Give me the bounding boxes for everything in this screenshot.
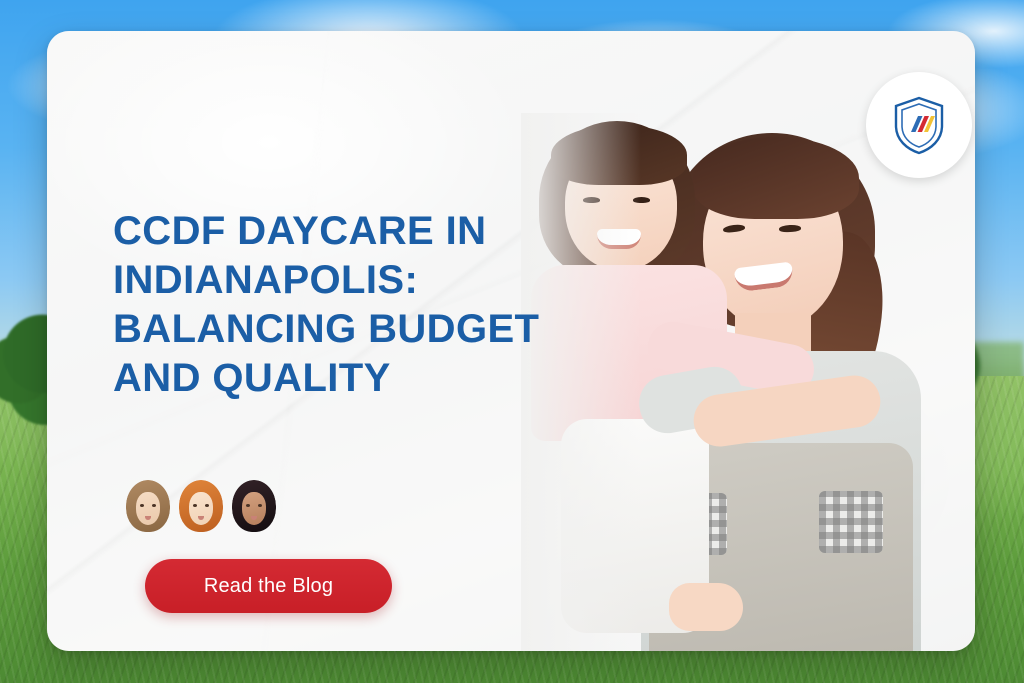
banner-card: CCDF Daycare in Indianapolis: Balancing …: [47, 31, 975, 651]
shield-icon: [891, 95, 947, 155]
apron-pocket-right: [819, 491, 883, 553]
page-title: CCDF Daycare in Indianapolis: Balancing …: [113, 207, 593, 403]
avatar-eye-left: [140, 504, 144, 507]
child-foot: [669, 583, 743, 631]
mother-bangs: [693, 137, 859, 219]
avatar-eye-left: [246, 504, 250, 507]
cta-group: Read the Blog: [98, 480, 398, 616]
child-avatar-group: [126, 480, 276, 532]
child-avatar-3: [232, 480, 276, 532]
avatar-eye-left: [193, 504, 197, 507]
banner-stage: CCDF Daycare in Indianapolis: Balancing …: [0, 0, 1024, 683]
child-avatar-2: [179, 480, 223, 532]
child-avatar-1: [126, 480, 170, 532]
logo-badge[interactable]: [866, 72, 972, 178]
read-the-blog-button[interactable]: Read the Blog: [145, 559, 392, 613]
